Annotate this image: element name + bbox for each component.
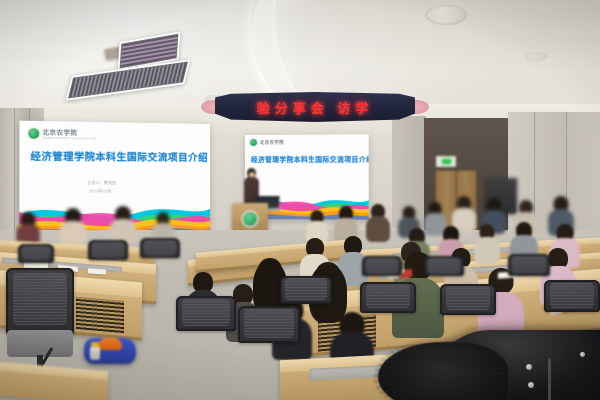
lecture-hall-photo: 验分享会 访学 北京农学院 BEIJING UNIVERSITY OF AGRI… [0, 0, 600, 400]
audience-person [366, 204, 390, 242]
slide-title: 经济管理学院本科生国际交流项目介绍 [30, 148, 208, 164]
coat-fur-collar [378, 342, 508, 400]
coat-zipper [548, 358, 551, 400]
ceiling-speaker-icon [425, 5, 467, 25]
podium-crest-icon [243, 212, 257, 226]
coat-stud [580, 352, 585, 357]
chair[interactable] [176, 296, 236, 350]
foreground-winter-coat [430, 330, 600, 400]
chair-foreground[interactable] [6, 268, 74, 372]
slide-subtitle: 主讲人：教务处 [87, 180, 117, 186]
chair[interactable] [238, 306, 300, 364]
coat-stud [528, 382, 534, 388]
led-banner: 验分享会 访学 [215, 92, 415, 122]
person-torso [366, 216, 390, 242]
audience-person [60, 208, 86, 246]
coat-stud [526, 364, 532, 370]
led-banner-text: 验分享会 访学 [257, 98, 374, 117]
led-banner-mount: 验分享会 访学 [215, 92, 415, 126]
university-subtitle: BEIJING UNIVERSITY OF AGRICULTURE [43, 137, 96, 141]
university-emblem-icon [28, 128, 39, 139]
chair[interactable] [140, 238, 180, 270]
chair[interactable] [440, 284, 496, 332]
slide-date: 2023年12月 [89, 188, 112, 194]
person-torso [60, 221, 86, 246]
university-name: 北京农学院 [260, 139, 284, 145]
chair[interactable] [544, 280, 600, 330]
exit-sign-icon [436, 156, 456, 167]
chair[interactable] [360, 282, 416, 330]
university-emblem-icon [250, 139, 257, 146]
chair[interactable] [88, 240, 128, 272]
backpack-on-floor[interactable] [84, 334, 136, 364]
ceiling-speaker-icon [525, 52, 547, 61]
slide-title: 经济管理学院本科生国际交流项目介绍 [251, 154, 369, 164]
audience-person [110, 206, 136, 244]
